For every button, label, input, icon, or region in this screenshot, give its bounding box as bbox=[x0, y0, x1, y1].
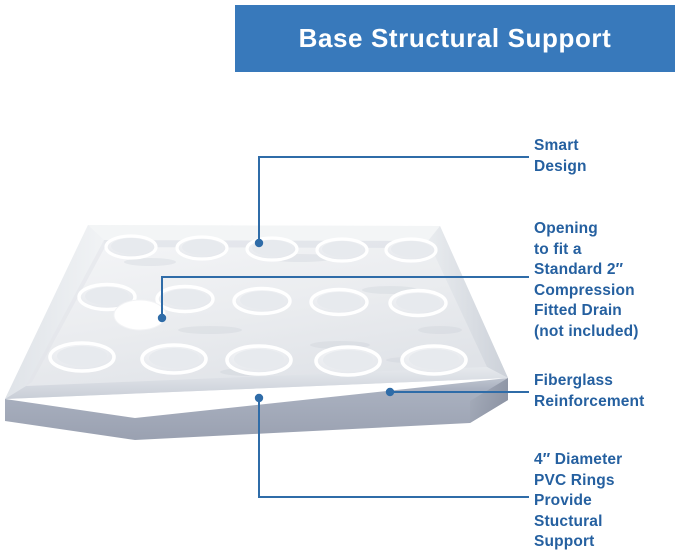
pan-surface-texture bbox=[92, 254, 462, 376]
pan-top-rim bbox=[5, 225, 508, 399]
pvc-ring-group-row-3 bbox=[50, 343, 466, 375]
pan-inner-floor bbox=[26, 240, 487, 386]
pan-left-lip bbox=[5, 225, 104, 399]
pan-right-side-wall bbox=[470, 378, 508, 423]
pvc-ring bbox=[390, 291, 446, 316]
drain-opening-edge bbox=[114, 300, 166, 330]
drain-opening-cutout bbox=[114, 300, 166, 330]
page-title: Base Structural Support bbox=[299, 23, 612, 54]
pan-body bbox=[5, 225, 508, 440]
pvc-ring bbox=[177, 237, 227, 259]
leader-line-smart-design bbox=[259, 157, 528, 243]
callout-label-drain-opening: Opening to fit a Standard 2″ Compression… bbox=[534, 219, 639, 342]
pan-right-lip bbox=[428, 226, 508, 378]
pan-rear-lip bbox=[88, 225, 440, 241]
leader-dot-smart-design bbox=[255, 239, 263, 247]
infographic-canvas: Base Structural Support Smart Design Ope… bbox=[0, 0, 679, 555]
pvc-ring bbox=[106, 236, 156, 258]
pvc-ring bbox=[386, 239, 436, 261]
pan-front-side-wall bbox=[5, 378, 508, 440]
leader-dot-fiberglass bbox=[386, 388, 394, 396]
pvc-ring-group-row-1 bbox=[106, 236, 436, 261]
leader-dot-drain-opening bbox=[158, 314, 166, 322]
pvc-ring bbox=[142, 345, 206, 373]
callout-label-pvc-rings: 4″ Diameter PVC Rings Provide Stuctural … bbox=[534, 450, 622, 553]
callout-label-smart-design: Smart Design bbox=[534, 136, 587, 177]
pvc-ring bbox=[50, 343, 114, 371]
pvc-ring bbox=[311, 290, 367, 315]
header-banner: Base Structural Support bbox=[235, 5, 675, 72]
pvc-ring bbox=[227, 346, 291, 374]
callout-label-fiberglass: Fiberglass Reinforcement bbox=[534, 371, 644, 412]
pvc-ring bbox=[247, 238, 297, 260]
pvc-ring-group-row-2 bbox=[79, 285, 446, 316]
pan-front-lip bbox=[5, 367, 508, 399]
leader-dot-pvc-rings bbox=[255, 394, 263, 402]
leader-line-drain-opening bbox=[162, 277, 528, 318]
leader-dots bbox=[158, 239, 394, 402]
pvc-ring bbox=[402, 346, 466, 374]
pan-left-inner-shadow bbox=[26, 240, 105, 386]
pan-rear-inner-shadow bbox=[104, 240, 428, 248]
pvc-ring bbox=[234, 289, 290, 314]
pvc-ring bbox=[157, 287, 213, 312]
pvc-ring bbox=[317, 239, 367, 261]
leader-line-pvc-rings bbox=[259, 398, 528, 497]
pvc-ring bbox=[316, 347, 380, 375]
leader-lines bbox=[162, 157, 528, 497]
pvc-ring bbox=[79, 285, 135, 310]
